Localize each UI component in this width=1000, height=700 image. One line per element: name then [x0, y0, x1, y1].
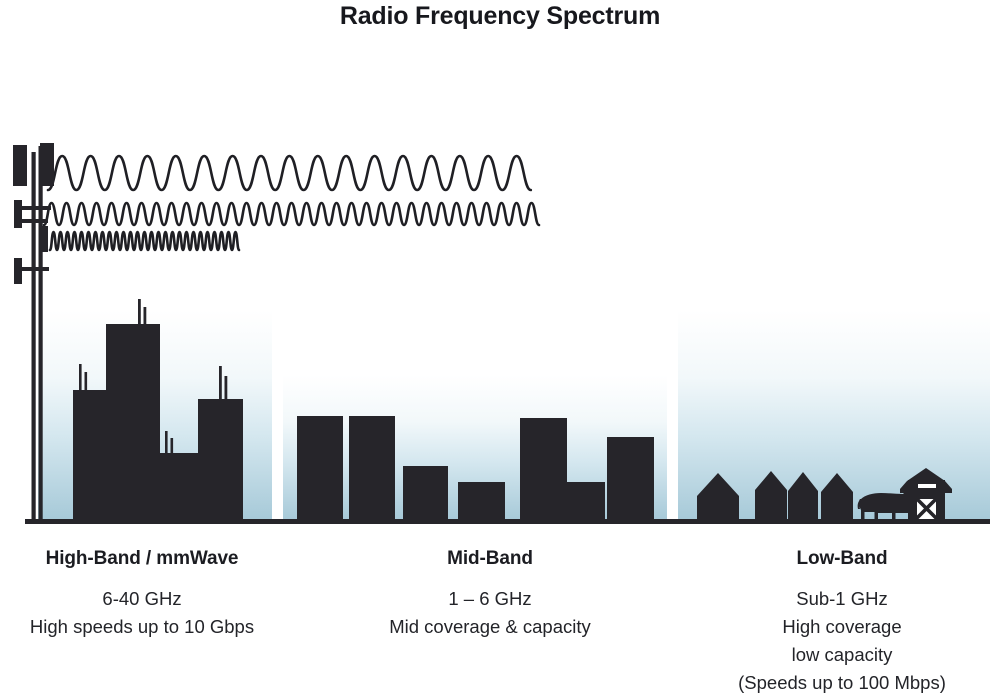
tower-mast-right — [39, 146, 43, 521]
band-frequency-mid: 1 – 6 GHz — [350, 585, 630, 613]
antenna-panel-top-left — [13, 145, 27, 186]
ground-line — [25, 519, 990, 524]
wave-group — [44, 156, 539, 250]
skyline-spire-1b — [85, 372, 88, 392]
skyline-spire-2a — [138, 299, 141, 325]
antenna-panel-top-right — [40, 143, 54, 186]
mid-building-6 — [565, 482, 605, 521]
high-band-wave — [50, 232, 239, 250]
mid-building-5 — [520, 418, 567, 521]
skyline-spire-2b — [144, 307, 147, 325]
band-detail-low-2: (Speeds up to 100 Mbps) — [700, 669, 984, 697]
skyline-spire-4b — [225, 376, 228, 399]
band-details-mid: 1 – 6 GHz Mid coverage & capacity — [350, 585, 630, 641]
building-1 — [73, 390, 106, 521]
barn-loft-window — [918, 484, 936, 488]
skyline-spire-1a — [79, 364, 82, 392]
low-band-wave — [48, 156, 531, 190]
building-3 — [160, 453, 198, 521]
skyline-spire-4a — [219, 366, 222, 399]
band-frequency-low: Sub-1 GHz — [700, 585, 984, 613]
mid-building-1 — [297, 416, 343, 521]
skyline-spire-3b — [171, 438, 174, 454]
skyline-spire-3a — [165, 431, 168, 454]
barn-door-frame-left — [914, 496, 917, 521]
band-detail-high-0: High speeds up to 10 Gbps — [0, 613, 284, 641]
band-detail-low-1: low capacity — [700, 641, 984, 669]
band-column-mid: Mid-Band 1 – 6 GHz Mid coverage & capaci… — [350, 548, 630, 641]
band-column-low: Low-Band Sub-1 GHz High coverage low cap… — [700, 548, 984, 697]
mid-building-4 — [458, 482, 505, 521]
mid-building-2 — [349, 416, 395, 521]
band-frequency-high: 6-40 GHz — [0, 585, 284, 613]
antenna-panel-bottom — [14, 258, 22, 284]
building-2 — [106, 324, 160, 521]
mid-building-7 — [607, 437, 654, 521]
antenna-panel-mid-left — [14, 200, 22, 228]
band-title-mid: Mid-Band — [350, 548, 630, 570]
band-title-high: High-Band / mmWave — [0, 548, 284, 570]
band-column-high: High-Band / mmWave 6-40 GHz High speeds … — [0, 548, 284, 641]
antenna-panel-mid-right — [40, 226, 48, 252]
band-details-high: 6-40 GHz High speeds up to 10 Gbps — [0, 585, 284, 641]
mid-band-wave — [44, 203, 539, 225]
band-title-low: Low-Band — [700, 548, 984, 570]
barn-door-frame-right — [936, 496, 939, 521]
infographic-canvas: Radio Frequency Spectrum — [0, 0, 1000, 700]
building-4 — [198, 399, 243, 521]
mid-building-3 — [403, 466, 448, 521]
band-detail-low-0: High coverage — [700, 613, 984, 641]
band-detail-mid-0: Mid coverage & capacity — [350, 613, 630, 641]
band-details-low: Sub-1 GHz High coverage low capacity (Sp… — [700, 585, 984, 697]
barn-door-frame-top — [914, 496, 939, 499]
